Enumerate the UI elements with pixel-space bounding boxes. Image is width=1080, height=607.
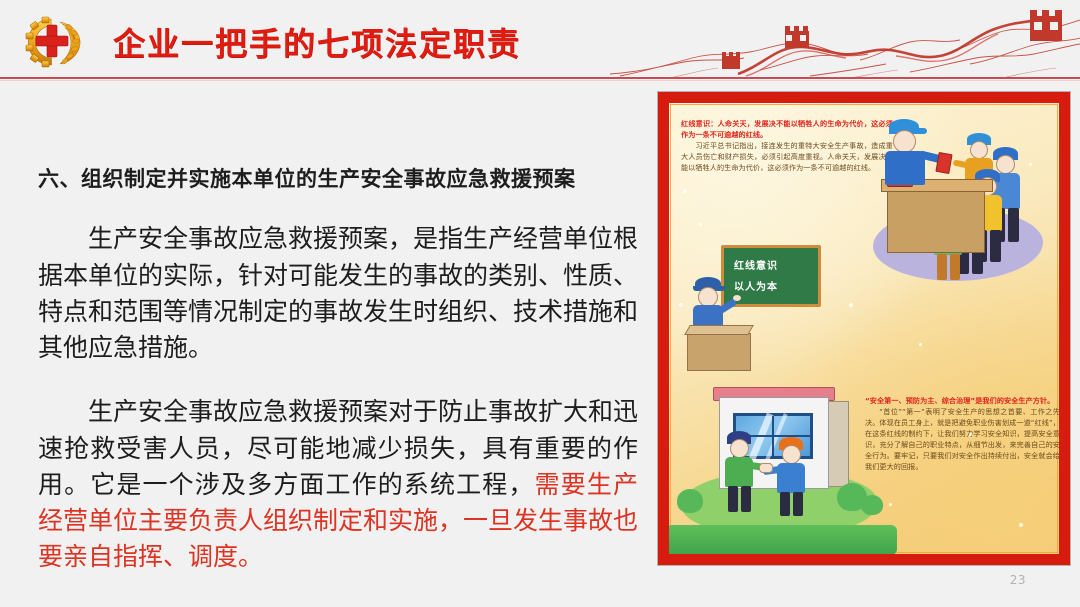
cardboard-box-icon (687, 333, 751, 371)
blackboard-line-2: 以人为本 (734, 278, 778, 293)
poster-canvas: 红线意识：人命关天，发展决不能以牺牲人的生命为代价，这必须作为一条不可逾越的红线… (669, 103, 1059, 554)
slide-header: 企业一把手的七项法定职责 (0, 0, 1080, 79)
building-side-wall (827, 401, 849, 487)
header-divider-secondary (0, 80, 1080, 81)
blackboard-teaching-scene: 红线意识 以人为本 (687, 245, 822, 380)
poster-text-redline: 红线意识：人命关天，发展决不能以牺牲人的生命为代价，这必须作为一条不可逾越的红线… (681, 119, 893, 174)
held-red-book-icon (935, 152, 952, 174)
ground-strip (669, 525, 897, 554)
paragraph-importance: 生产安全事故应急救援预案对于防止事故扩大和迅速抢救受害人员，尽可能地减少损失，具… (38, 394, 638, 575)
handshake-icon (759, 463, 773, 473)
paragraph-definition-text: 生产安全事故应急救援预案，是指生产经营单位根据本单位的实际，针对可能发生的事故的… (38, 224, 638, 362)
workers-handshake-building-scene (675, 379, 885, 549)
blackboard-line-1: 红线意识 (734, 257, 778, 272)
bush-icon-1 (677, 489, 703, 513)
slide-number: 23 (1010, 573, 1026, 587)
paragraph-definition: 生产安全事故应急救援预案，是指生产经营单位根据本单位的实际，针对可能发生的事故的… (38, 221, 638, 366)
slide: 企业一把手的七项法定职责 六、组织制定并实施本单位的生产安全事故应急救援预案 生… (0, 0, 1080, 607)
section-heading: 六、组织制定并实施本单位的生产安全事故应急救援预案 (38, 166, 638, 193)
safety-training-podium-scene (865, 113, 1050, 293)
poster-text-policy-body: “首位”“第一”表明了安全生产的思想之首要、工作之先决。体现在员工身上，就是把避… (865, 407, 1059, 471)
poster-text-policy: “安全第一、预防为主、综合治理”是我们的安全生产方针。 “首位”“第一”表明了安… (865, 396, 1059, 473)
page-title: 企业一把手的七项法定职责 (113, 19, 521, 65)
content-column: 六、组织制定并实施本单位的生产安全事故应急救援预案 生产安全事故应急救援预案，是… (38, 166, 638, 604)
bush-icon-3 (861, 495, 883, 515)
podium-icon (887, 191, 985, 253)
poster-text-redline-lead: 红线意识：人命关天，发展决不能以牺牲人的生命为代价，这必须作为一条不可逾越的红线… (681, 119, 893, 139)
header-divider-primary (0, 77, 1080, 79)
safety-poster-image: 红线意识：人命关天，发展决不能以牺牲人的生命为代价，这必须作为一条不可逾越的红线… (658, 92, 1070, 565)
poster-text-redline-body: 习近平总书记指出，接连发生的重特大安全生产事故，造成重大人员伤亡和财产损失，必须… (681, 141, 893, 172)
great-wall-illustration-icon (610, 0, 1080, 79)
poster-text-policy-lead: “安全第一、预防为主、综合治理”是我们的安全生产方针。 (865, 396, 1054, 405)
safety-production-emblem-icon (20, 13, 84, 71)
